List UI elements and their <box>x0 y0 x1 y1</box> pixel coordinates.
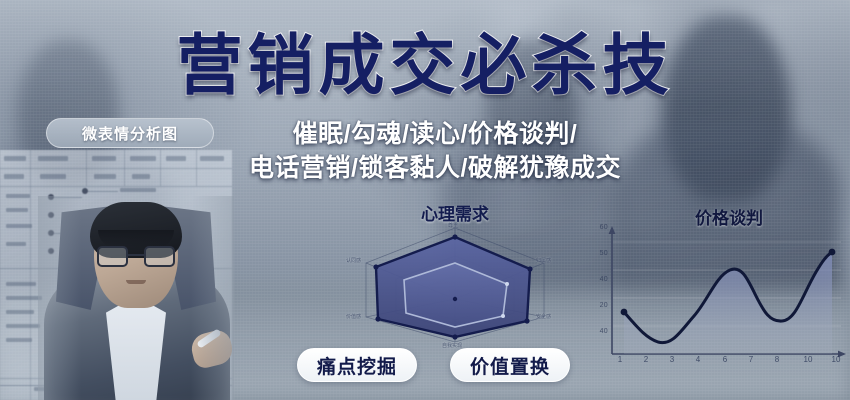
line-chart-end-point <box>829 249 836 256</box>
x-tick: 3 <box>670 355 674 364</box>
line-chart: 价格谈判 60 50 40 20 40 <box>586 200 842 390</box>
page-title: 营销成交必杀技 <box>0 32 850 98</box>
pill-value-exchange[interactable]: 价值置换 <box>450 348 570 382</box>
radar-chart-svg <box>340 216 570 352</box>
subtitle-line-1: 催眠/勾魂/读心/价格谈判/ <box>210 118 660 152</box>
x-tick: 4 <box>696 355 700 364</box>
radar-label-lower-right: 安全感 <box>536 313 551 320</box>
radar-label-upper-left: 认同感 <box>346 257 361 264</box>
pill-pain-point-mining[interactable]: 痛点挖掘 <box>297 348 417 382</box>
x-tick: 10 <box>804 355 813 364</box>
x-tick: 10 <box>832 355 841 364</box>
line-chart-svg <box>604 224 850 374</box>
x-tick: 6 <box>723 355 727 364</box>
x-tick: 2 <box>644 355 648 364</box>
line-chart-start-point <box>621 309 628 316</box>
radar-label-top: 尊重 <box>448 222 458 229</box>
x-tick: 1 <box>618 355 622 364</box>
radar-chart: 心理需求 <box>340 200 570 355</box>
speaker-edge-fade <box>38 196 234 400</box>
radar-label-lower-left: 价值感 <box>346 313 361 320</box>
marketing-banner: 微表情分析图 营销成交必杀技 催眠/勾魂/读心/价格谈判/ 电话营销/锁客黏人/… <box>0 0 850 400</box>
subtitle-block: 催眠/勾魂/读心/价格谈判/ 电话营销/锁客黏人/破解犹豫成交 <box>210 118 660 185</box>
x-tick: 8 <box>775 355 779 364</box>
radar-label-bottom: 自我实现 <box>442 342 462 349</box>
subtitle-line-2: 电话营销/锁客黏人/破解犹豫成交 <box>210 152 660 186</box>
line-chart-x-axis: 1 2 3 4 6 7 8 10 10 <box>610 355 840 369</box>
x-tick: 7 <box>749 355 753 364</box>
speaker-photo <box>38 196 234 400</box>
micro-expression-badge: 微表情分析图 <box>46 118 214 148</box>
radar-label-upper-right: 归属感 <box>536 257 551 264</box>
